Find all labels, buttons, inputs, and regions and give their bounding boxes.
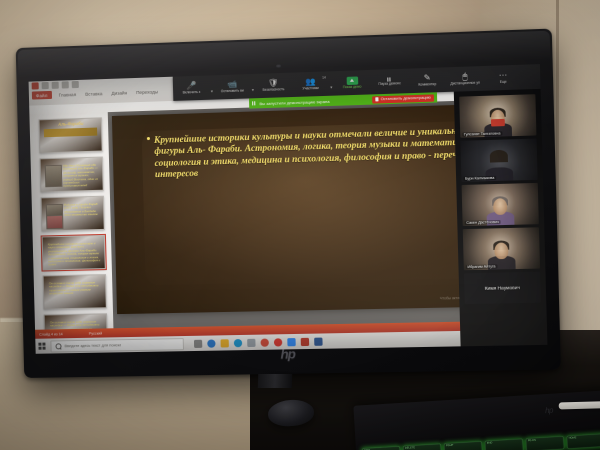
keyboard-hp-logo: hp <box>545 406 553 415</box>
taskbar-search-input[interactable]: Введите здесь текст для поиска <box>50 338 184 352</box>
monitor-screen: Файл Главная Вставка Дизайн Переходы Аль… <box>29 64 548 354</box>
ribbon-tab-design[interactable]: Дизайн <box>109 89 129 97</box>
participant-name: Сакен Дастёнович <box>465 219 501 224</box>
key-pgdn: PG DN <box>526 436 565 450</box>
participant-name: Гулсанат Талгатовна <box>462 131 502 136</box>
hp-monitor: hp Файл Главная Вставка Дизайн Переходы <box>16 29 561 378</box>
key-home: HOME <box>567 434 600 449</box>
key-label: HOME <box>569 436 577 439</box>
stop-share-label: Остановить демонстрацию <box>381 96 431 102</box>
keyboard-key-row: CTRL DELETE PGUP END PG DN HOME <box>362 434 600 450</box>
participant-video <box>463 227 540 270</box>
zoom-video-label: Остановить ви <box>221 89 244 93</box>
slide-thumbnail-3[interactable]: Родился в городе Фараб в 872 году. Получ… <box>41 196 105 232</box>
zoom-more-button[interactable]: ⋯ Еще <box>484 65 523 91</box>
ribbon-tab-transitions[interactable]: Переходы <box>134 88 160 96</box>
zoom-pause-share-button[interactable]: Пауза демонс <box>370 69 408 95</box>
slide-thumbnail-1[interactable]: Аль-Фараби <box>39 117 103 153</box>
zoom-share-label: Показ демо <box>343 85 362 89</box>
zoom-share-screen-button[interactable]: Показ демо <box>333 70 371 96</box>
participant-tile-no-video[interactable]: Кимя Наумович <box>464 272 541 304</box>
slide-thumbnail-pane[interactable]: Аль-Фараби Абу Наср Мухаммад ибн Мухамма… <box>29 112 113 330</box>
start-button[interactable] <box>35 339 48 354</box>
participant-hair <box>490 150 508 163</box>
zoom-participants-label: Участники <box>302 87 318 91</box>
room-photo-scene: hp Файл Главная Вставка Дизайн Переходы <box>0 0 600 450</box>
zoom-more-label: Еще <box>500 80 507 84</box>
slide-thumbnail-2[interactable]: Абу Наср Мухаммад ибн Мухаммад аль-Фараб… <box>40 157 104 193</box>
redo-icon[interactable] <box>62 81 69 88</box>
ribbon-tab-insert[interactable]: Вставка <box>83 90 104 98</box>
ribbon-tab-file[interactable]: Файл <box>32 91 52 100</box>
slide-thumbnail-5[interactable]: Он оставил после себя огромное наследие … <box>43 274 107 309</box>
zoom-video-button[interactable]: 📹 Остановить ви <box>214 74 252 100</box>
participants-icon: 👥 <box>305 78 316 86</box>
participant-name: Ибрагим Айтуга <box>466 264 497 269</box>
language-indicator[interactable]: Русский <box>89 331 103 335</box>
pencil-icon: ✎ <box>424 74 431 82</box>
sharing-pause-icon[interactable] <box>252 101 256 105</box>
zoom-annotate-button[interactable]: ✎ Комментир <box>408 67 446 93</box>
zoom-remote-label: Дистанционное уп <box>450 81 480 86</box>
search-icon <box>55 343 61 349</box>
thumbnail-band <box>44 128 97 138</box>
ribbon-tab-list: Файл Главная Вставка Дизайн Переходы <box>32 87 160 99</box>
zoom-pause-label: Пауза демонс <box>378 82 400 86</box>
participants-count-badge: 14 <box>322 76 326 80</box>
participant-video <box>460 139 537 182</box>
key-end: END <box>485 439 524 450</box>
windows-logo-icon <box>38 343 45 350</box>
zoom-remote-control-button[interactable]: 🖱 Дистанционное уп <box>446 66 485 92</box>
zoom-mute-label: Включить з <box>183 91 201 95</box>
remote-icon: 🖱 <box>462 72 467 80</box>
slide-thumbnail-4-active[interactable]: Крупнейшие историки культуры и науки отм… <box>42 235 106 271</box>
held-phone-icon <box>491 119 505 127</box>
participant-tile[interactable]: Бури Калмыкова <box>460 139 537 182</box>
camera-icon: 📹 <box>227 80 237 88</box>
powerpoint-app-icon <box>32 82 39 89</box>
thumbnail-image-b <box>46 215 63 229</box>
slide-thumbnail-6[interactable]: Он оставил после себя огромное наследие … <box>44 313 108 329</box>
participant-tile[interactable]: Гулсанат Талгатовна <box>459 94 536 138</box>
key-pgup: PGUP <box>444 441 483 450</box>
key-delete: DELETE <box>403 444 442 450</box>
participant-face <box>493 198 507 215</box>
participant-tile[interactable]: Ибрагим Айтуга <box>463 227 540 270</box>
zoom-icon[interactable] <box>287 338 295 346</box>
store-icon[interactable] <box>247 338 255 346</box>
chrome-icon[interactable] <box>260 338 268 346</box>
stop-square-icon <box>375 98 379 102</box>
thumbnail-text: Абу Наср Мухаммад ибн Мухаммад аль-Фараб… <box>63 164 99 188</box>
opera-icon[interactable] <box>274 338 282 346</box>
ribbon-tab-home[interactable]: Главная <box>56 91 78 99</box>
thumbnail-text: Родился в городе Фараб в 872 году. Получ… <box>64 203 100 227</box>
search-placeholder: Введите здесь текст для поиска <box>64 343 121 348</box>
zoom-mute-button[interactable]: 🎤 Включить з <box>173 75 210 100</box>
zoom-participant-filmstrip[interactable]: Гулсанат Талгатовна Бури Калмыкова <box>454 89 548 349</box>
zoom-participants-button[interactable]: 👥 Участники 14 <box>292 71 330 97</box>
edge-icon[interactable] <box>207 339 215 347</box>
participant-face <box>494 242 508 259</box>
key-label: PG DN <box>528 439 536 442</box>
shield-icon: 🛡 <box>268 79 279 87</box>
word-icon[interactable] <box>314 337 323 345</box>
slide-indicator: Слайд 4 из 14 <box>35 332 63 337</box>
mail-icon[interactable] <box>234 339 242 347</box>
thumbnail-portrait-image <box>45 165 63 188</box>
ellipsis-icon: ⋯ <box>499 71 508 80</box>
key-label: END <box>487 441 493 444</box>
sharing-status-text: Вы запустили демонстрацию экрана <box>259 98 329 105</box>
key-label: PGUP <box>446 444 454 447</box>
task-view-icon[interactable] <box>194 339 202 347</box>
thumbnail-text: Он оставил после себя огромное наследие … <box>49 281 102 305</box>
participant-name: Бури Калмыкова <box>463 175 496 180</box>
monitor-stand-neck <box>258 374 292 388</box>
customize-icon[interactable] <box>72 81 79 88</box>
zoom-security-label: Безопасность <box>263 88 285 92</box>
key-label: DELETE <box>405 446 415 450</box>
taskbar-app-icons[interactable] <box>194 337 323 347</box>
quick-access-toolbar[interactable] <box>32 81 79 90</box>
zoom-annotate-label: Комментир <box>418 83 436 87</box>
undo-icon[interactable] <box>52 82 59 89</box>
participant-name: Кимя Наумович <box>464 285 540 292</box>
explorer-icon[interactable] <box>220 339 228 347</box>
slide-body-text: Крупнейшие историки культуры и науки отм… <box>154 125 487 180</box>
usb-cable <box>559 401 600 409</box>
share-screen-icon <box>346 76 358 85</box>
participant-tile[interactable]: Сакен Дастёнович <box>462 183 539 226</box>
stop-share-button[interactable]: Остановить демонстрацию <box>372 94 434 103</box>
save-icon[interactable] <box>42 82 49 89</box>
key-ctrl: CTRL <box>362 446 401 450</box>
thumbnail-text: Крупнейшие историки культуры и науки отм… <box>48 242 101 266</box>
powerpoint-icon[interactable] <box>301 337 309 345</box>
zoom-security-button[interactable]: 🛡 Безопасность <box>255 73 293 99</box>
microphone-icon: 🎤 <box>186 82 196 90</box>
